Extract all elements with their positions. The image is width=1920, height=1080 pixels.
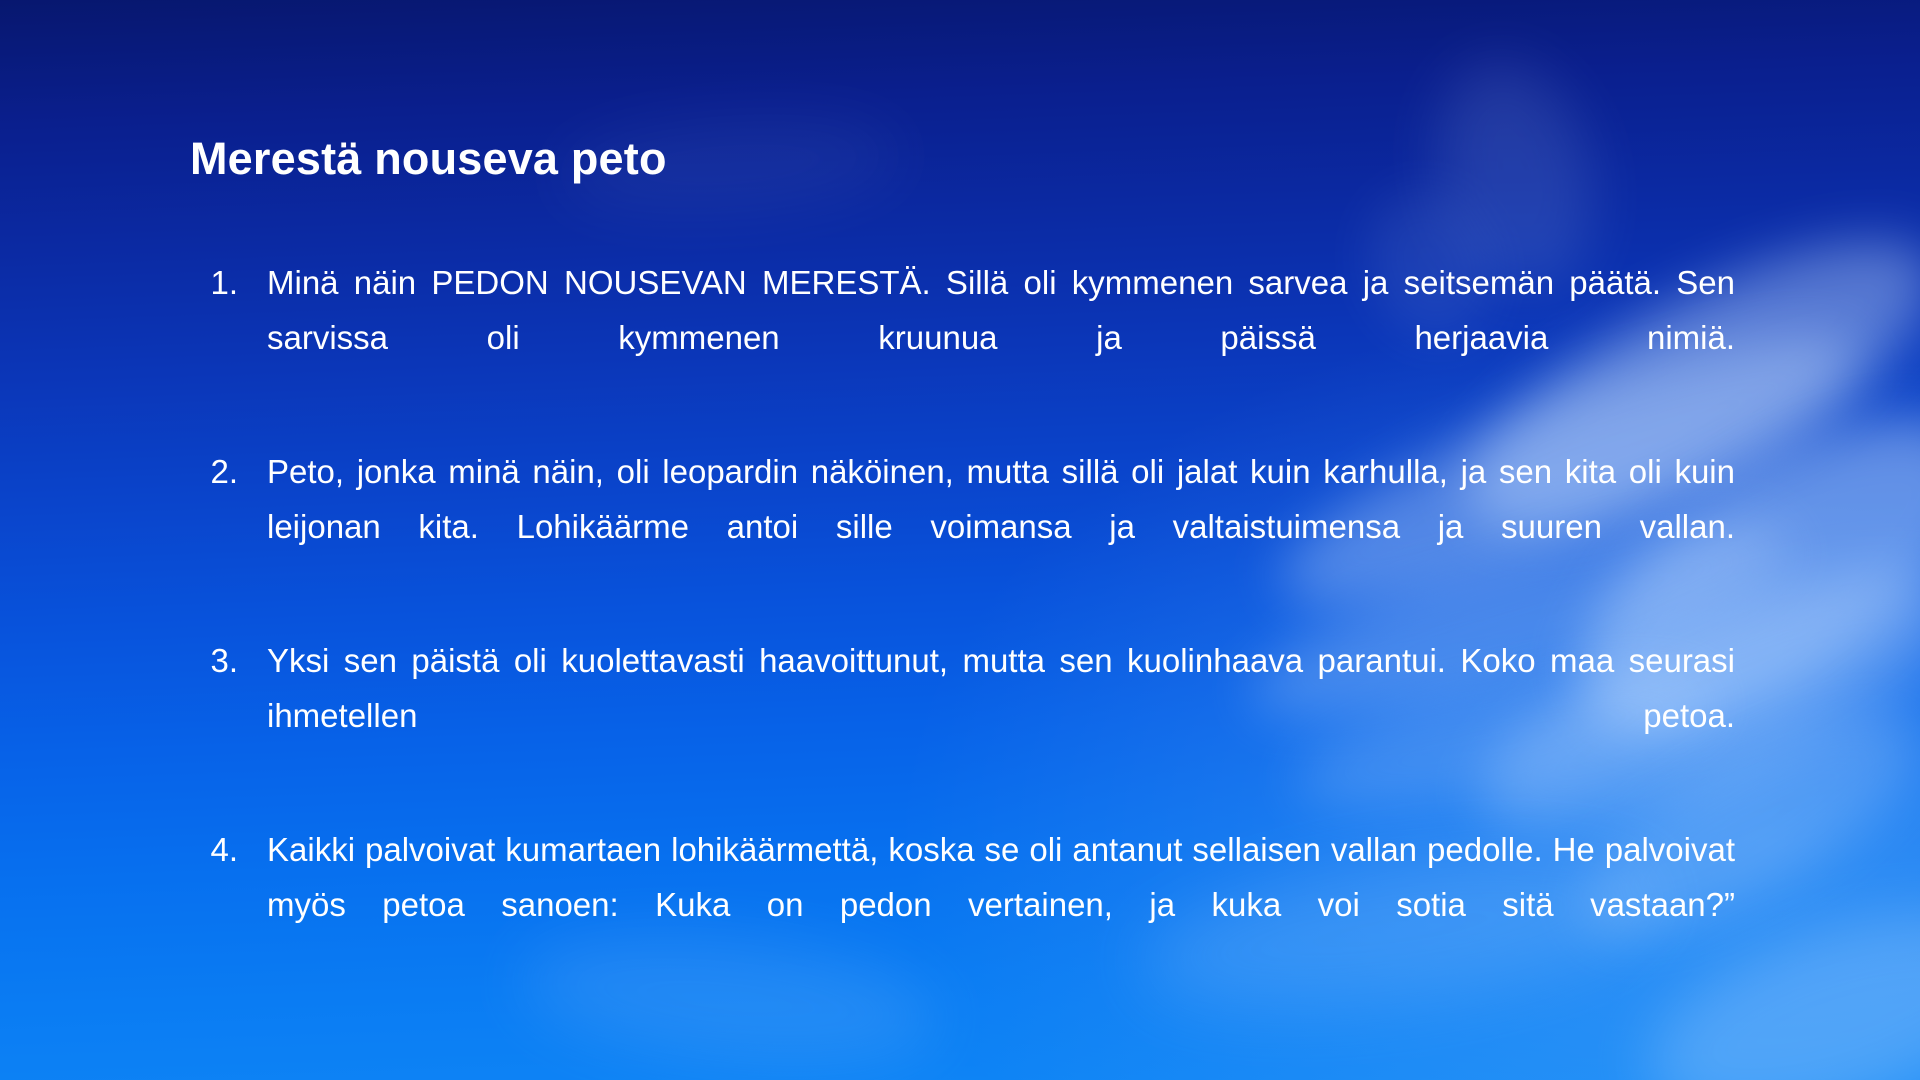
- list-item: 3. Yksi sen päistä oli kuolettavasti haa…: [190, 633, 1735, 798]
- list-item: 2. Peto, jonka minä näin, oli leopardin …: [190, 444, 1735, 609]
- presentation-slide: Merestä nouseva peto 1. Minä näin PEDON …: [0, 0, 1920, 1080]
- list-item-text: Kaikki palvoivat kumartaen lohikäärmettä…: [267, 822, 1735, 987]
- list-item-number: 3.: [190, 633, 238, 688]
- list-item-number: 2.: [190, 444, 238, 499]
- list-item: 1. Minä näin PEDON NOUSEVAN MERESTÄ. Sil…: [190, 255, 1735, 420]
- list-item-number: 1.: [190, 255, 238, 310]
- list-item-text: Minä näin PEDON NOUSEVAN MERESTÄ. Sillä …: [267, 255, 1735, 420]
- list-item: 4. Kaikki palvoivat kumartaen lohikäärme…: [190, 822, 1735, 987]
- list-item-text: Yksi sen päistä oli kuolettavasti haavoi…: [267, 633, 1735, 798]
- list-item-text: Peto, jonka minä näin, oli leopardin näk…: [267, 444, 1735, 609]
- slide-content: Merestä nouseva peto 1. Minä näin PEDON …: [190, 0, 1735, 1080]
- list-item-number: 4.: [190, 822, 238, 877]
- numbered-list: 1. Minä näin PEDON NOUSEVAN MERESTÄ. Sil…: [190, 255, 1735, 987]
- page-title: Merestä nouseva peto: [190, 134, 667, 184]
